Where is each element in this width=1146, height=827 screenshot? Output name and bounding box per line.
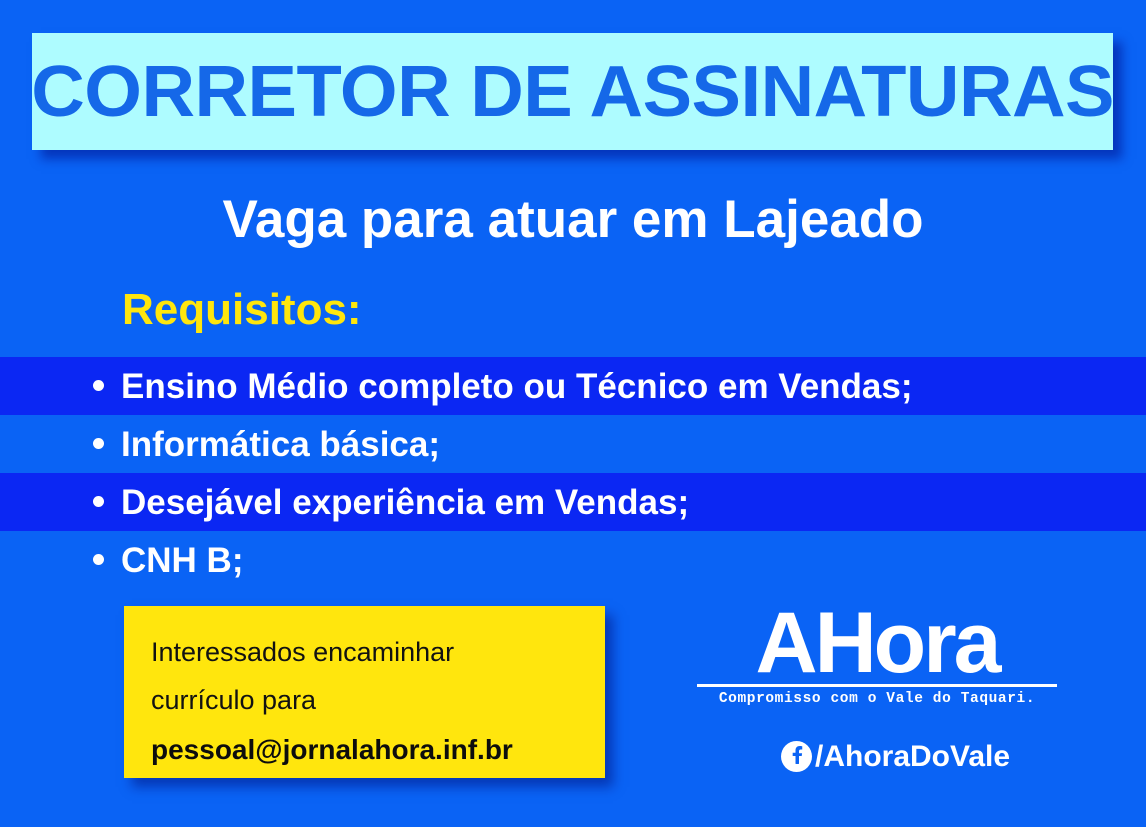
contact-line-2: currículo para xyxy=(151,676,605,724)
contact-box: Interessados encaminhar currículo para p… xyxy=(124,606,605,778)
list-item: Desejável experiência em Vendas; xyxy=(0,473,1146,531)
contact-email[interactable]: pessoal@jornalahora.inf.br xyxy=(151,726,605,774)
logo-tagline: Compromisso com o Vale do Taquari. xyxy=(697,691,1057,707)
contact-line-1: Interessados encaminhar xyxy=(151,628,605,676)
bullet-icon xyxy=(93,438,104,449)
requirements-list: Ensino Médio completo ou Técnico em Vend… xyxy=(0,357,1146,589)
list-item: Ensino Médio completo ou Técnico em Vend… xyxy=(0,357,1146,415)
list-item: CNH B; xyxy=(0,531,1146,589)
requirements-heading: Requisitos: xyxy=(122,288,362,332)
facebook-icon xyxy=(781,741,812,772)
list-item-label: Desejável experiência em Vendas; xyxy=(121,485,689,520)
bullet-icon xyxy=(93,554,104,565)
list-item: Informática básica; xyxy=(0,415,1146,473)
facebook-handle: /AhoraDoVale xyxy=(815,742,1010,772)
list-item-label: CNH B; xyxy=(121,543,243,578)
ahora-logo: AHora Compromisso com o Vale do Taquari. xyxy=(697,604,1057,707)
bullet-icon xyxy=(93,496,104,507)
list-item-label: Informática básica; xyxy=(121,427,440,462)
job-ad-poster: CORRETOR DE ASSINATURAS Vaga para atuar … xyxy=(0,0,1146,827)
poster-subtitle: Vaga para atuar em Lajeado xyxy=(0,193,1146,246)
logo-wordmark: AHora xyxy=(697,604,1057,683)
list-item-label: Ensino Médio completo ou Técnico em Vend… xyxy=(121,369,913,404)
bullet-icon xyxy=(93,380,104,391)
facebook-link[interactable]: /AhoraDoVale xyxy=(781,741,1010,772)
header-banner: CORRETOR DE ASSINATURAS xyxy=(32,33,1113,150)
poster-title: CORRETOR DE ASSINATURAS xyxy=(31,56,1114,128)
